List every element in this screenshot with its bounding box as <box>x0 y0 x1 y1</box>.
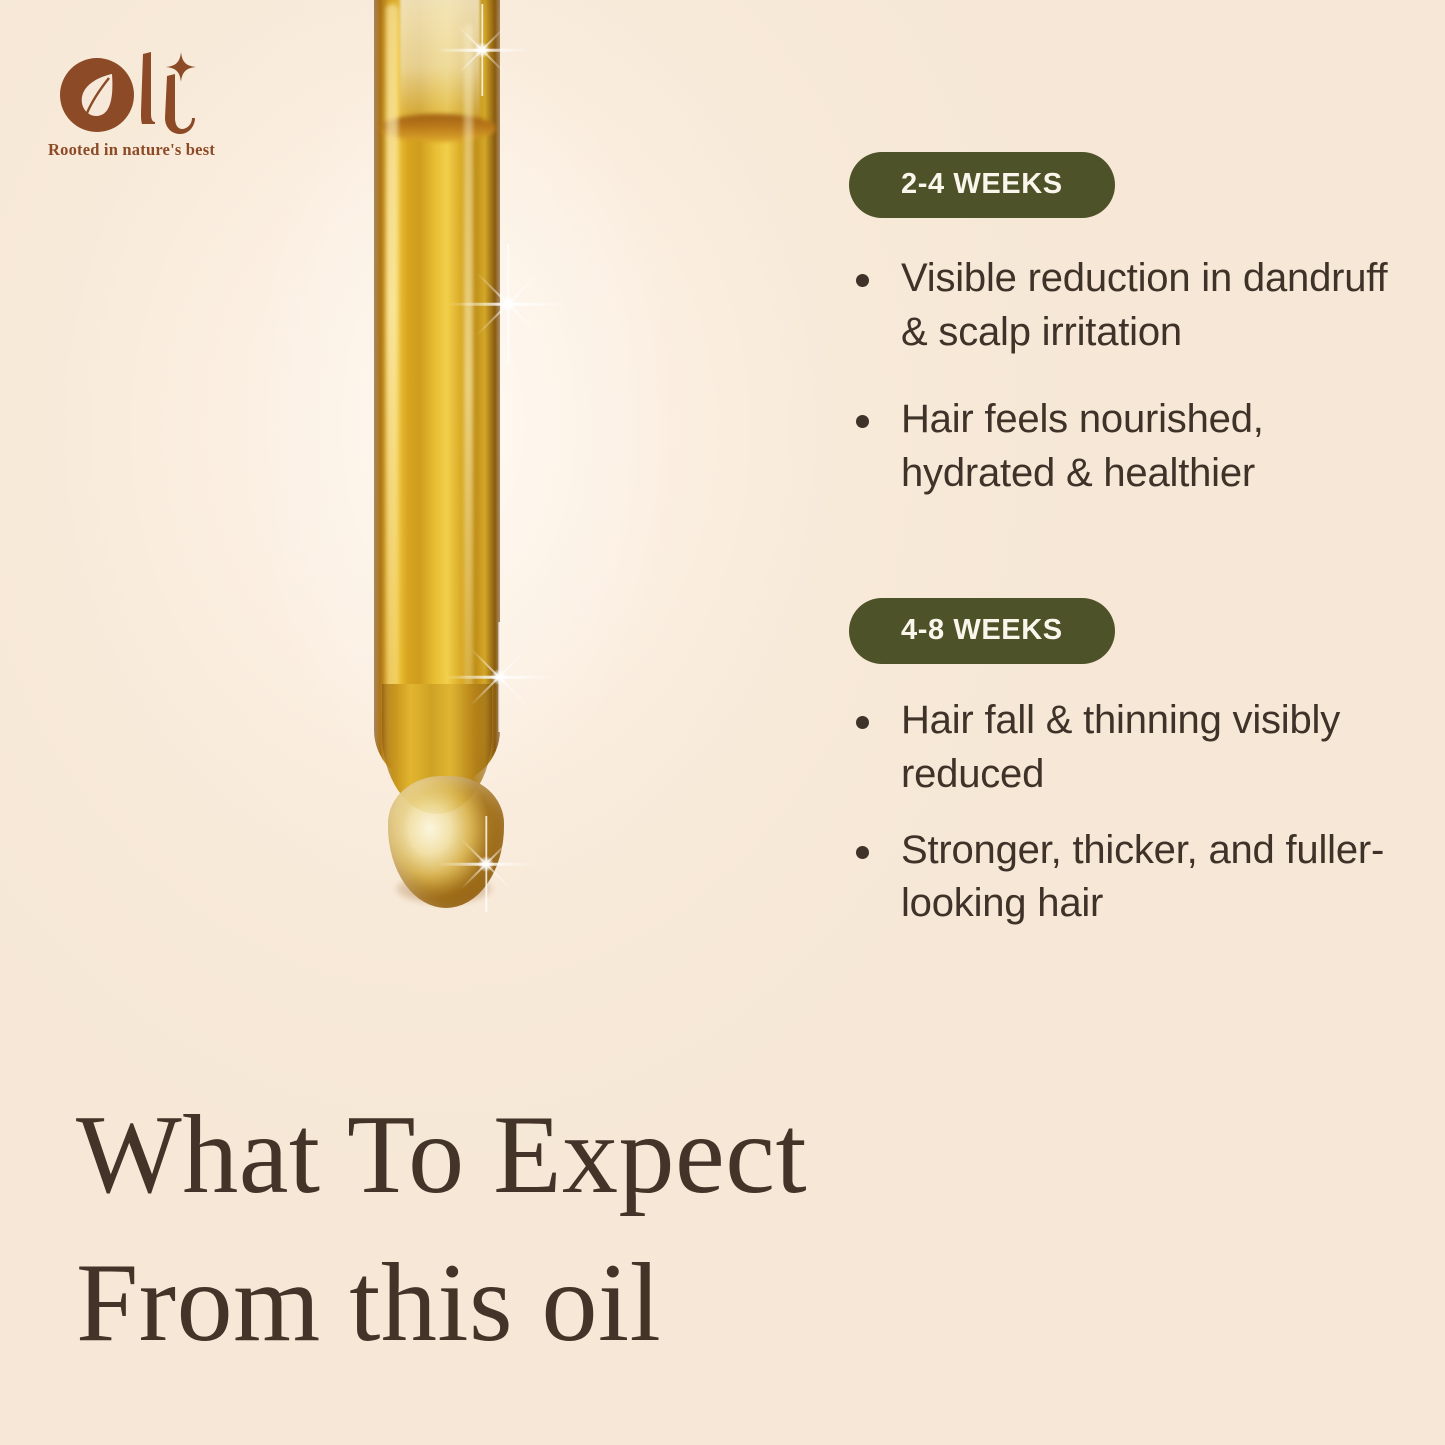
benefit-text: Hair feels nourished, hydrated & healthi… <box>901 397 1264 495</box>
headline-line-2: From this oil <box>76 1230 936 1378</box>
logo-letter-l <box>140 52 156 124</box>
phase-2-benefit-list: Hair fall & thinning visibly reduced Str… <box>849 694 1409 930</box>
list-item: Hair fall & thinning visibly reduced <box>849 694 1409 801</box>
benefit-text: Hair fall & thinning visibly reduced <box>901 698 1340 796</box>
phase-1-benefit-list: Visible reduction in dandruff & scalp ir… <box>849 252 1409 500</box>
badge-4-8-weeks: 4-8 WEEKS <box>849 598 1115 664</box>
list-item: Stronger, thicker, and fuller-looking ha… <box>849 824 1409 931</box>
glass-highlight-left <box>386 4 398 764</box>
bullet-dot-icon <box>856 716 869 729</box>
benefit-text: Visible reduction in dandruff & scalp ir… <box>901 256 1387 354</box>
expectation-timeline: 2-4 WEEKS Visible reduction in dandruff … <box>849 152 1409 931</box>
page-title: What To Expect From this oil <box>76 1082 936 1378</box>
dropper-pipette-image <box>352 0 522 924</box>
bullet-dot-icon <box>856 846 869 859</box>
leaf-icon <box>79 73 116 117</box>
bullet-dot-icon <box>856 274 869 287</box>
list-item: Hair feels nourished, hydrated & healthi… <box>849 393 1409 500</box>
brand-logo: Rooted in nature's best <box>48 52 238 170</box>
sparkle-icon <box>166 52 196 82</box>
badge-2-4-weeks: 2-4 WEEKS <box>849 152 1115 218</box>
phase-4-8-weeks: 4-8 WEEKS Hair fall & thinning visibly r… <box>849 598 1409 930</box>
benefit-text: Stronger, thicker, and fuller-looking ha… <box>901 828 1384 926</box>
brand-tagline: Rooted in nature's best <box>48 140 215 160</box>
bullet-dot-icon <box>856 415 869 428</box>
logo-letter-i <box>162 74 196 134</box>
headline-line-1: What To Expect <box>76 1082 936 1230</box>
phase-2-4-weeks: 2-4 WEEKS Visible reduction in dandruff … <box>849 152 1409 500</box>
list-item: Visible reduction in dandruff & scalp ir… <box>849 252 1409 359</box>
logo-wordmark <box>48 52 238 138</box>
glass-highlight-right <box>464 24 473 744</box>
promo-canvas: Rooted in nature's best 2-4 WEEKS Visibl… <box>0 0 1445 1445</box>
